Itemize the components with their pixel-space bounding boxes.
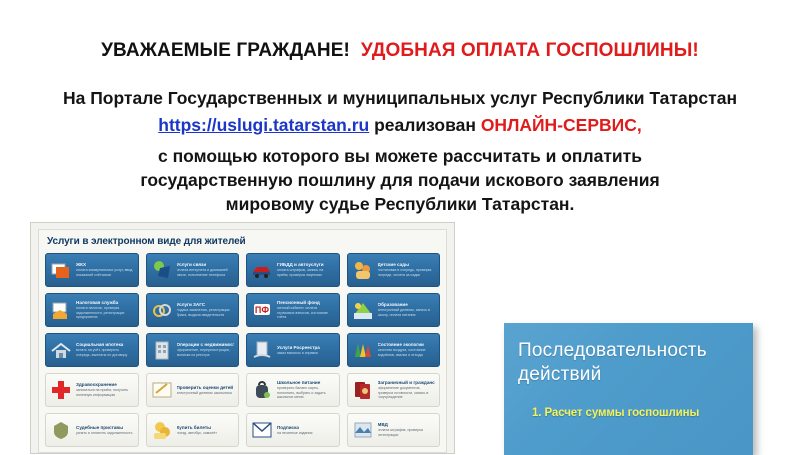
service-tile[interactable]: Проверить оценки детейэлектронный дневни… [146, 373, 240, 407]
service-tile-description: поезд, автобус, самолёт [177, 431, 235, 436]
ecology-icon [352, 339, 374, 361]
headline-black-part: УВАЖАЕМЫЕ ГРАЖДАНЕ! [101, 40, 350, 61]
service-tile-text: Здравоохранениезаписаться на приём, полу… [76, 382, 134, 397]
service-tile[interactable]: Школьное питаниепроверить баланс карты, … [246, 373, 340, 407]
service-tile-description: постановка в очередь, проверка очереди, … [378, 268, 436, 277]
body-line-4: государственную пошлину для подачи исков… [0, 170, 800, 191]
service-tile-text: Услуги Росреестразаказ выписок и справок [277, 345, 335, 356]
service-tile-description: электронный дневник школьника [177, 391, 235, 396]
portal-content-area: Услуги в электронном виде для жителей ЖК… [38, 229, 447, 453]
mortgage-icon [50, 339, 72, 361]
service-tile-description: проверить баланс карты, пополнить, выбра… [277, 386, 335, 400]
service-tile-text: Заграничный и гражданский паспортоформле… [378, 380, 436, 400]
service-tile-description: качество воздуха, состояние водоёмов, св… [378, 348, 436, 357]
notebook-icon [151, 379, 173, 401]
sequence-step-item: 1. Расчет суммы госпошлины [532, 405, 739, 422]
service-tile-text: Операции с недвижимостьюоформление, пере… [177, 342, 235, 357]
service-tile-text: Услуги связиоплата интернета и домашней … [177, 262, 235, 277]
service-tile-description: оплата налогов, проверка задолженности, … [76, 306, 134, 320]
svg-text:ПФ: ПФ [255, 305, 269, 315]
service-tile[interactable]: ПФПенсионный фондличный кабинет, оплата … [246, 293, 340, 327]
service-tile[interactable]: Подпискана печатные издания [246, 413, 340, 447]
body-line-2-middle: реализован [374, 115, 476, 135]
service-tile[interactable]: Социальная ипотекавстать на учёт, провер… [45, 333, 139, 367]
service-tile-description: узнать и оплатить задолженность [76, 431, 134, 436]
service-tile-text: Школьное питаниепроверить баланс карты, … [277, 380, 335, 400]
service-tile[interactable]: Услуги связиоплата интернета и домашней … [146, 253, 240, 287]
service-tile[interactable]: Операции с недвижимостьюоформление, пере… [146, 333, 240, 367]
headline-red-part: УДОБНАЯ ОПЛАТА ГОСПОШЛИНЫ! [361, 40, 699, 61]
service-tile[interactable]: Судебные приставыузнать и оплатить задол… [45, 413, 139, 447]
service-tile[interactable]: Купить билетыпоезд, автобус, самолёт [146, 413, 240, 447]
rings-icon [151, 299, 173, 321]
sequence-panel-title: Последовательность действий [518, 339, 739, 387]
pension-icon: ПФ [251, 299, 273, 321]
body-line-3: с помощью которого вы можете рассчитать … [0, 146, 800, 167]
globe-icon [151, 259, 173, 281]
rosreestr-icon [251, 339, 273, 361]
service-tile-text: МВДоплата штрафов, проверка регистрации [378, 422, 436, 437]
service-tile-text: ЖКХоплата коммунальных услуг, ввод показ… [76, 262, 134, 277]
service-tile-description: встать на учёт, проверить очередь, выпла… [76, 348, 134, 357]
health-cross-icon [50, 379, 72, 401]
kids-icon [352, 259, 374, 281]
service-tile[interactable]: Здравоохранениезаписаться на приём, полу… [45, 373, 139, 407]
portal-section-title: Услуги в электронном виде для жителей [47, 236, 440, 247]
service-tile-text: Подпискана печатные издания [277, 425, 335, 436]
service-tile-description: оплата интернета и домашней связи, попол… [177, 268, 235, 277]
education-icon [352, 299, 374, 321]
service-tile-description: электронный дневник, запись в школу, опл… [378, 308, 436, 317]
service-tile-description: заказ выписок и справок [277, 351, 335, 356]
service-tile-name: Проверить оценки детей [177, 385, 235, 391]
service-tile-text: Проверить оценки детейэлектронный дневни… [177, 385, 235, 396]
service-tile-description: оформление, перерегистрация, выписка из … [177, 348, 235, 357]
service-tile[interactable]: Заграничный и гражданский паспортоформле… [347, 373, 441, 407]
building-icon [151, 339, 173, 361]
portal-service-tiles: ЖКХоплата коммунальных услуг, ввод показ… [45, 253, 440, 447]
portal-screenshot: Услуги в электронном виде для жителей ЖК… [30, 222, 455, 454]
utility-bill-icon [50, 259, 72, 281]
service-tile[interactable]: Услуги ЗАГСподача заявления, регистрация… [146, 293, 240, 327]
sequence-step-list: 1. Расчет суммы госпошлины [532, 405, 739, 422]
online-service-accent: ОНЛАЙН-СЕРВИС, [481, 115, 642, 135]
service-tile-text: Услуги ЗАГСподача заявления, регистрация… [177, 302, 235, 317]
service-tile-description: записаться на приём, получить полезную и… [76, 388, 134, 397]
service-tile-text: Налоговая службаоплата налогов, проверка… [76, 300, 134, 320]
service-tile-description: оплата штрафов, проверка регистрации [378, 428, 436, 437]
service-tile[interactable]: ГИБДД и автоуслугиоплата штрафов, запись… [246, 253, 340, 287]
service-tile-text: Купить билетыпоезд, автобус, самолёт [177, 425, 235, 436]
mvd-icon [352, 419, 374, 441]
portal-url-link[interactable]: https://uslugi.tatarstan.ru [158, 115, 369, 135]
passport-icon [352, 379, 374, 401]
service-tile-text: ГИБДД и автоуслугиоплата штрафов, запись… [277, 262, 335, 277]
service-tile[interactable]: МВДоплата штрафов, проверка регистрации [347, 413, 441, 447]
bailiff-icon [50, 419, 72, 441]
service-tile[interactable]: Налоговая службаоплата налогов, проверка… [45, 293, 139, 327]
page-headline: УВАЖАЕМЫЕ ГРАЖДАНЕ!УДОБНАЯ ОПЛАТА ГОСПОШ… [0, 40, 800, 62]
service-tile-text: Образованиеэлектронный дневник, запись в… [378, 302, 436, 317]
body-line-2: https://uslugi.tatarstan.ru реализован О… [0, 115, 800, 136]
service-tile-description: оплата коммунальных услуг, ввод показани… [76, 268, 134, 277]
service-tile[interactable]: Детские садыпостановка в очередь, провер… [347, 253, 441, 287]
backpack-icon [251, 379, 273, 401]
body-line-1: На Портале Государственных и муниципальн… [0, 88, 800, 109]
service-tile-text: Пенсионный фондличный кабинет, оплата ст… [277, 300, 335, 320]
service-tile-text: Социальная ипотекавстать на учёт, провер… [76, 342, 134, 357]
service-tile-text: Состояние экологиикачество воздуха, сост… [378, 342, 436, 357]
car-icon [251, 259, 273, 281]
service-tile-description: оформление документов, проверка готовнос… [378, 386, 436, 400]
service-tile-description: на печатные издания [277, 431, 335, 436]
service-tile[interactable]: Образованиеэлектронный дневник, запись в… [347, 293, 441, 327]
post-icon [251, 419, 273, 441]
tax-icon [50, 299, 72, 321]
service-tile-text: Детские садыпостановка в очередь, провер… [378, 262, 436, 277]
service-tile-description: оплата штрафов, запись на приём, проверк… [277, 268, 335, 277]
sequence-panel: Последовательность действий 1. Расчет су… [504, 323, 753, 455]
service-tile[interactable]: ЖКХоплата коммунальных услуг, ввод показ… [45, 253, 139, 287]
service-tile[interactable]: Состояние экологиикачество воздуха, сост… [347, 333, 441, 367]
body-line-5: мировому судье Республики Татарстан. [0, 194, 800, 215]
service-tile[interactable]: Услуги Росреестразаказ выписок и справок [246, 333, 340, 367]
service-tile-description: подача заявления, регистрация брака, выд… [177, 308, 235, 317]
service-tile-description: личный кабинет, оплата страховых взносов… [277, 306, 335, 320]
tickets-icon [151, 419, 173, 441]
service-tile-text: Судебные приставыузнать и оплатить задол… [76, 425, 134, 436]
